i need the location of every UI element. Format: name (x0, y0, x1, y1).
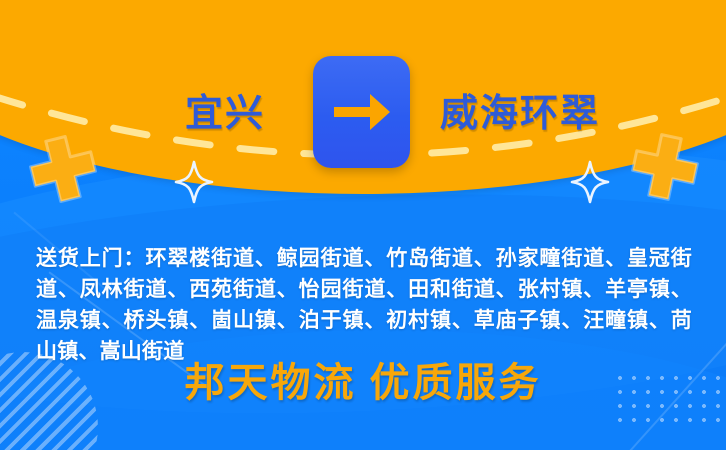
route-destination-label: 威海环翠 (440, 95, 600, 133)
route-arrow-tile (313, 56, 410, 168)
delivery-areas-text: 送货上门：环翠楼街道、鲸园街道、竹岛街道、孙家疃街道、皇冠街道、凤林街道、西苑街… (36, 243, 692, 367)
right-arrow-icon (330, 90, 394, 134)
route-origin-label: 宜兴 (185, 95, 265, 133)
company-slogan: 邦天物流 优质服务 (0, 363, 726, 403)
logistics-route-banner: 宜兴 威海环翠 送货上门：环翠楼街道、鲸园街道、竹岛街道、孙家疃街道、皇冠街道、… (0, 0, 726, 450)
